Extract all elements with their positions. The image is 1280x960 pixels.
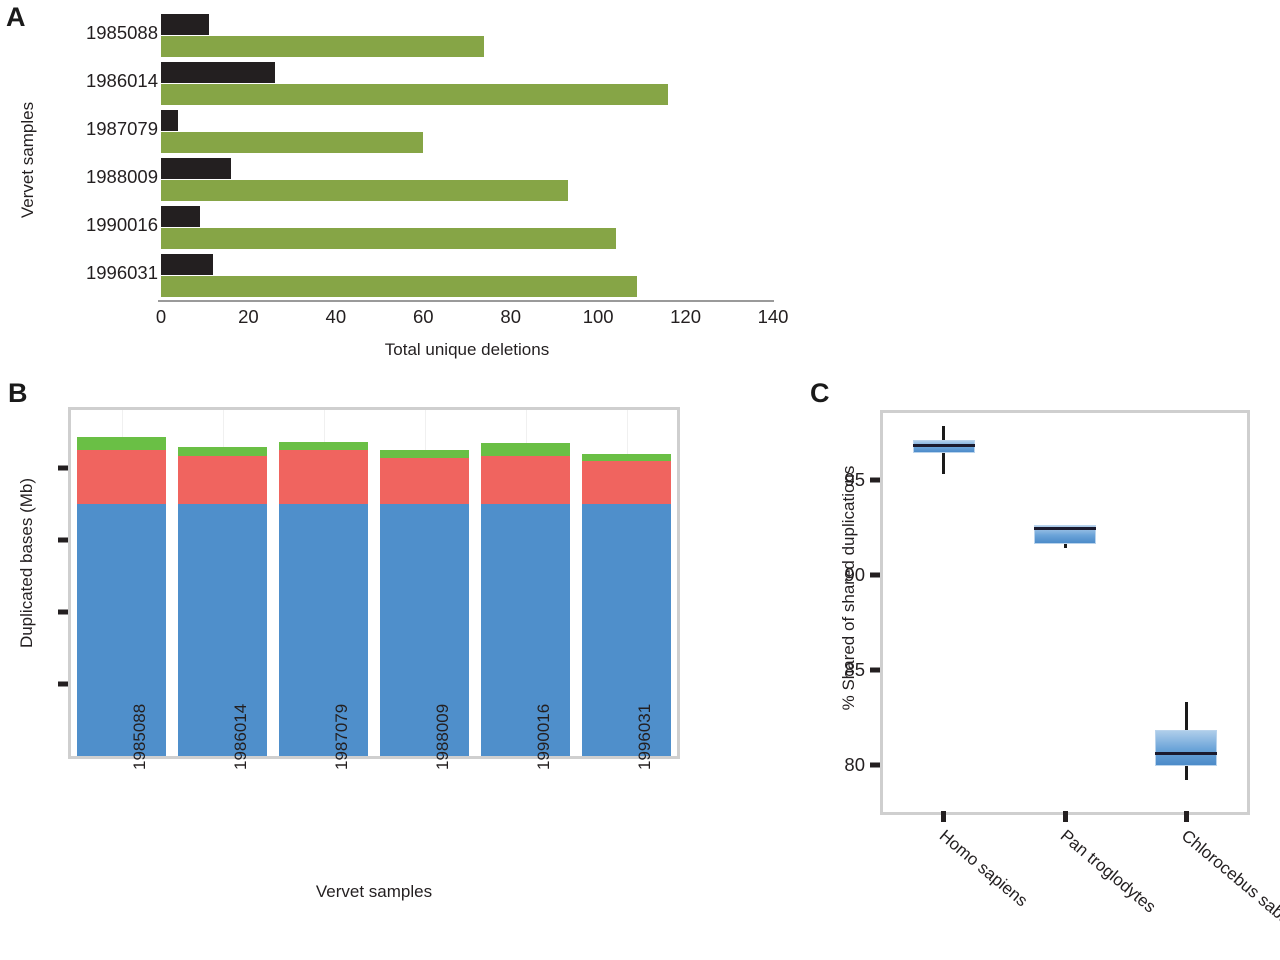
panel-b-stacked-bar: [279, 410, 368, 756]
panel-a-category-label: 1987079: [38, 118, 158, 140]
panel-a-bar-dark: [161, 14, 209, 35]
panel-c-whisker-lower: [1185, 766, 1188, 779]
panel-a-bar-dark: [161, 62, 275, 83]
panel-b-category-label: 1990016: [534, 704, 554, 770]
panel-a-x-tick-label: 20: [238, 306, 259, 328]
panel-c-whisker-lower: [942, 453, 945, 474]
panel-b-y-axis-title: Duplicated bases (Mb): [17, 443, 37, 683]
panel-b-segment-blue: [178, 504, 267, 756]
panel-a-x-tick-label: 100: [583, 306, 614, 328]
panel-b-stacked-bar: [178, 410, 267, 756]
panel-b-category-label: 1988009: [433, 704, 453, 770]
panel-a-bar-dark: [161, 110, 178, 131]
panel-a-category-label: 1988009: [38, 166, 158, 188]
panel-c-plot-area: [880, 410, 1250, 815]
panel-c-category-label: Homo sapiens: [935, 826, 1031, 911]
panel-c-box: [1155, 730, 1217, 766]
panel-a-x-tick-label: 120: [670, 306, 701, 328]
panel-c-x-tick-mark: [1063, 811, 1068, 822]
panel-b-stacked-bar: [481, 410, 570, 756]
panel-a-category-labels: 1985088198601419870791988009199001619960…: [0, 0, 158, 300]
panel-b-category-label: 1986014: [231, 704, 251, 770]
panel-b-segment-red: [279, 450, 368, 503]
panel-b-stacked-bar: [582, 410, 671, 756]
panel-a-x-axis-line: [158, 300, 774, 302]
panel-b-segment-green: [279, 442, 368, 451]
panel-a-bar-olive: [161, 132, 423, 153]
panel-c-category-label: Pan troglodytes: [1056, 826, 1159, 917]
panel-a-x-tick-label: 140: [758, 306, 789, 328]
panel-a-x-tick-label: 80: [500, 306, 521, 328]
panel-b-category-label: 1996031: [635, 704, 655, 770]
panel-c-letter: C: [810, 378, 829, 409]
panel-b-segment-blue: [77, 504, 166, 756]
panel-c-x-tick-mark: [941, 811, 946, 822]
panel-b-segment-green: [178, 447, 267, 456]
panel-b-segment-blue: [582, 504, 671, 756]
panel-b-segment-blue: [380, 504, 469, 756]
panel-c-whisker-upper: [1185, 702, 1188, 731]
panel-c-median-line: [1155, 752, 1217, 755]
panel-c-whisker-lower: [1064, 544, 1067, 548]
panel-a-category-label: 1990016: [38, 214, 158, 236]
panel-c-category-label: Chlorocebus sabaeus: [1177, 826, 1280, 947]
panel-b-segment-green: [481, 443, 570, 456]
panel-a-x-axis-title: Total unique deletions: [161, 340, 773, 360]
panel-b-segment-green: [77, 437, 166, 450]
panel-a-category-label: 1986014: [38, 70, 158, 92]
panel-b-segment-blue: [279, 504, 368, 756]
panel-c-median-line: [1034, 527, 1096, 530]
panel-a-category-label: 1996031: [38, 262, 158, 284]
panel-b-stacked-bar: [77, 410, 166, 756]
panel-a: A Vervet samples 19850881986014198707919…: [0, 0, 800, 375]
panel-a-bar-olive: [161, 180, 568, 201]
panel-b-category-label: 1985088: [130, 704, 150, 770]
panel-b-x-axis-title: Vervet samples: [68, 882, 680, 902]
panel-a-bar-olive: [161, 36, 484, 57]
panel-b-segment-green: [582, 454, 671, 461]
panel-b-segment-red: [380, 458, 469, 504]
panel-b-segment-blue: [481, 504, 570, 756]
panel-c-x-tick-mark: [1184, 811, 1189, 822]
panel-c-y-tick-label: 90: [844, 564, 865, 586]
panel-a-bar-dark: [161, 206, 200, 227]
panel-c-y-tick-label: 80: [844, 754, 865, 776]
panel-b-letter: B: [8, 378, 27, 409]
panel-a-bar-dark: [161, 158, 231, 179]
panel-c-y-tick-label: 85: [844, 659, 865, 681]
panel-a-category-label: 1985088: [38, 22, 158, 44]
panel-c-whisker-upper: [942, 426, 945, 439]
panel-a-bar-olive: [161, 84, 668, 105]
panel-c-median-line: [913, 444, 975, 447]
panel-a-plot-area: [161, 0, 773, 300]
panel-a-bar-dark: [161, 254, 213, 275]
panel-b-segment-red: [481, 456, 570, 504]
panel-a-bar-olive: [161, 228, 616, 249]
panel-b-plot-area: [68, 407, 680, 759]
panel-a-x-tick-label: 40: [326, 306, 347, 328]
panel-b: B Duplicated bases (Mb) 10203040 1985088…: [0, 378, 700, 960]
panel-a-bar-olive: [161, 276, 637, 297]
panel-c-y-tick-label: 95: [844, 469, 865, 491]
panel-b-segment-red: [77, 450, 166, 504]
panel-a-x-tick-label: 60: [413, 306, 434, 328]
panel-b-segment-green: [380, 450, 469, 458]
panel-b-segment-red: [178, 456, 267, 504]
panel-b-segment-red: [582, 461, 671, 504]
panel-b-category-label: 1987079: [332, 704, 352, 770]
panel-a-x-tick-label: 0: [156, 306, 166, 328]
panel-c: C % Shared of shared duplications 808590…: [790, 378, 1280, 960]
panel-b-stacked-bar: [380, 410, 469, 756]
